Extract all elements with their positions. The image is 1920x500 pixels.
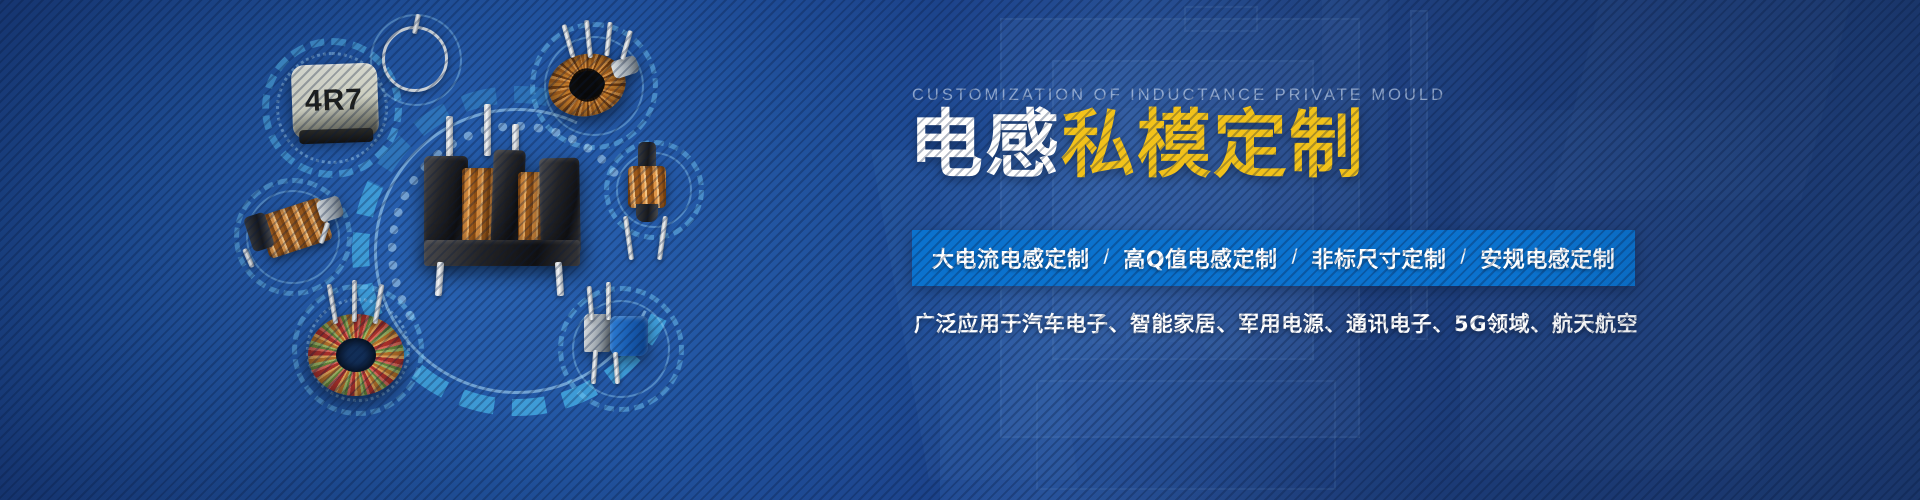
feature-item-nonstandard[interactable]: 非标尺寸定制 xyxy=(1311,242,1446,274)
banner-text-block: CUSTOMIZATION OF INDUCTANCE PRIVATE MOUL… xyxy=(912,0,1920,500)
product-smd-inductor: 4R7 xyxy=(291,63,380,140)
feature-separator-1: / xyxy=(1104,246,1110,270)
headline-gold-part: 私模定制 xyxy=(1061,102,1365,188)
banner-subline: 广泛应用于汽车电子、智能家居、军用电源、通讯电子、5G领域、航天航空 xyxy=(914,308,1638,338)
promo-banner: 4R7 xyxy=(0,0,1920,500)
feature-bar: 大电流电感定制 / 高Q值电感定制 / 非标尺寸定制 / 安规电感定制 xyxy=(912,230,1635,286)
headline-white-part: 电感 xyxy=(909,102,1061,188)
product-wire-coil xyxy=(382,26,448,92)
feature-separator-2: / xyxy=(1292,246,1298,270)
feature-item-high-q[interactable]: 高Q值电感定制 xyxy=(1123,242,1277,274)
feature-item-high-current[interactable]: 大电流电感定制 xyxy=(932,242,1090,274)
feature-item-safety[interactable]: 安规电感定制 xyxy=(1480,242,1615,274)
page-title: 电感私模定制 xyxy=(909,108,1365,182)
feature-separator-3: / xyxy=(1460,246,1466,270)
